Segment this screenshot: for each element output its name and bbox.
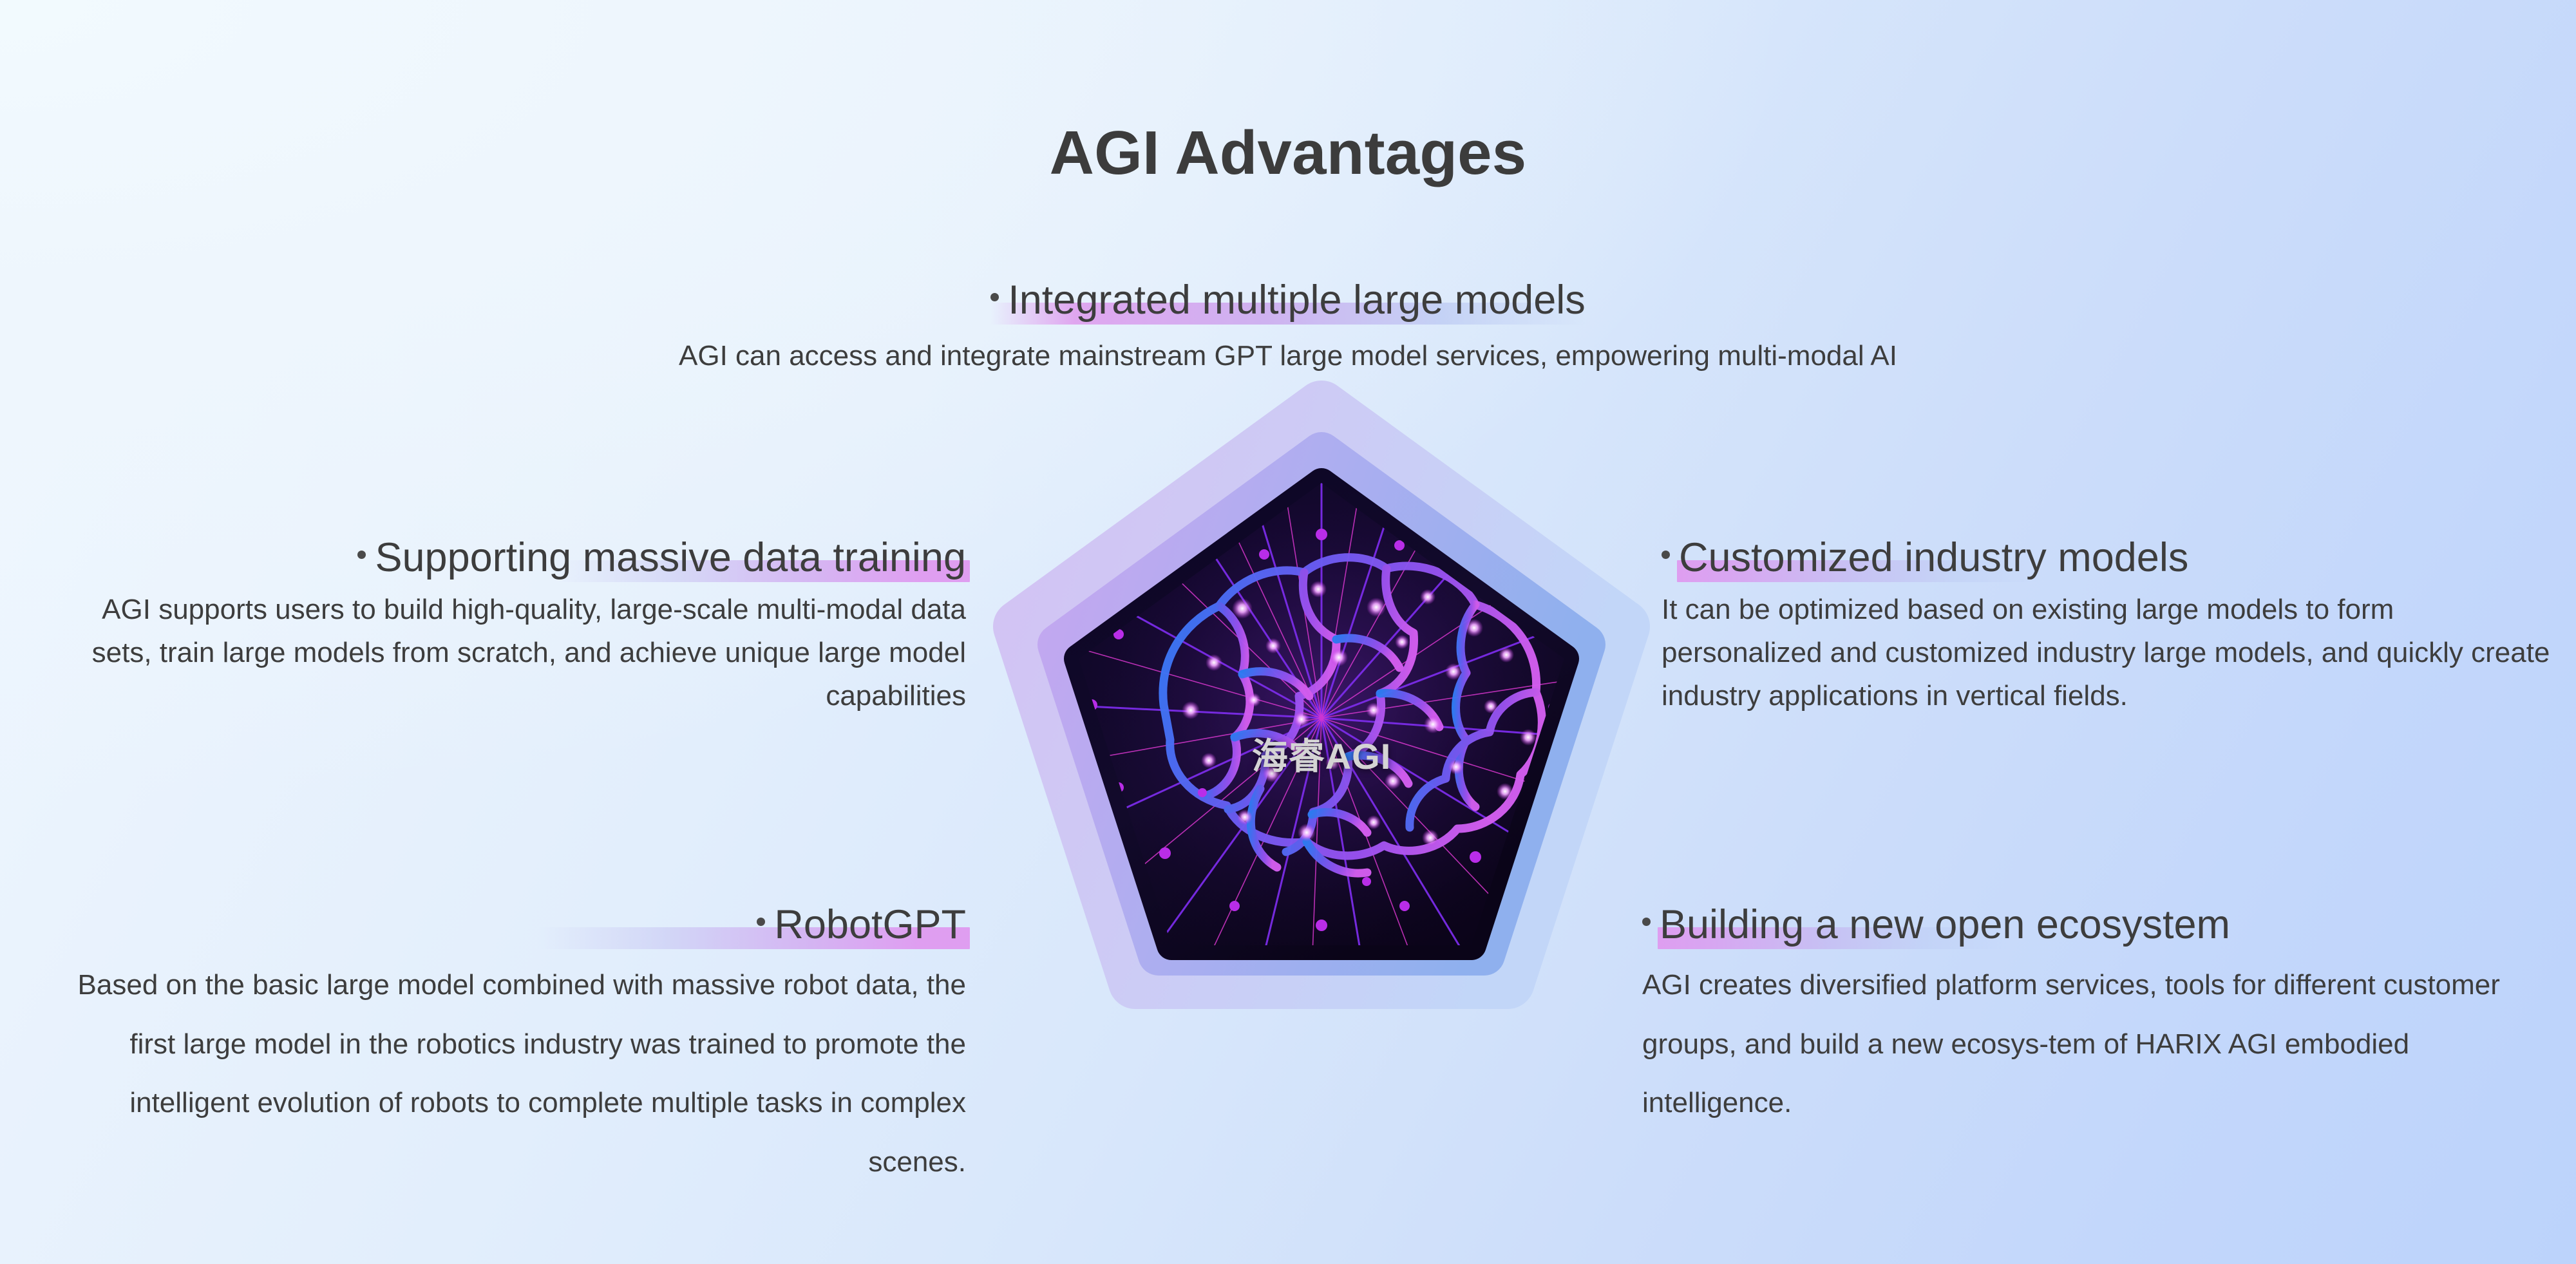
advantage-heading-integrated-models: Integrated multiple large models (990, 277, 1586, 323)
slide-canvas: AGI Advantages (0, 0, 2576, 1264)
advantage-heading-open-ecosystem: Building a new open ecosystem (1642, 901, 2230, 948)
advantage-block-industry-models: Customized industry models It can be opt… (1662, 534, 2550, 718)
bullet-dot-icon (1642, 918, 1651, 926)
advantage-block-robotgpt: RobotGPT Based on the basic large model … (39, 901, 966, 1192)
advantage-heading-text: Supporting massive data training (375, 535, 966, 580)
advantage-heading-industry-models: Customized industry models (1662, 534, 2188, 581)
advantage-block-integrated-models: Integrated multiple large models AGI can… (0, 277, 2576, 378)
advantage-heading-text: RobotGPT (774, 902, 966, 947)
advantage-body-robotgpt: Based on the basic large model combined … (39, 956, 966, 1191)
bullet-dot-icon (990, 293, 999, 301)
advantage-body-open-ecosystem: AGI creates diversified platform service… (1642, 956, 2544, 1133)
pentagon-layers (1016, 402, 1627, 1082)
advantage-block-data-training: Supporting massive data training AGI sup… (39, 534, 966, 718)
advantage-heading-text: Integrated multiple large models (1008, 278, 1586, 323)
bullet-dot-icon (757, 918, 765, 926)
advantage-heading-text: Customized industry models (1679, 535, 2188, 580)
page-title: AGI Advantages (0, 118, 2576, 189)
advantage-block-open-ecosystem: Building a new open ecosystem AGI create… (1642, 901, 2544, 1133)
bullet-dot-icon (357, 551, 366, 559)
advantage-body-data-training: AGI supports users to build high-quality… (39, 589, 966, 718)
advantage-heading-robotgpt: RobotGPT (757, 901, 966, 948)
advantage-heading-data-training: Supporting massive data training (357, 534, 966, 581)
advantage-body-industry-models: It can be optimized based on existing la… (1662, 589, 2550, 718)
bullet-dot-icon (1662, 551, 1670, 559)
advantage-heading-text: Building a new open ecosystem (1660, 902, 2230, 947)
advantage-body-integrated-models: AGI can access and integrate mainstream … (0, 335, 2576, 378)
center-pentagon-graphic: 海睿AGI (1016, 402, 1627, 1082)
